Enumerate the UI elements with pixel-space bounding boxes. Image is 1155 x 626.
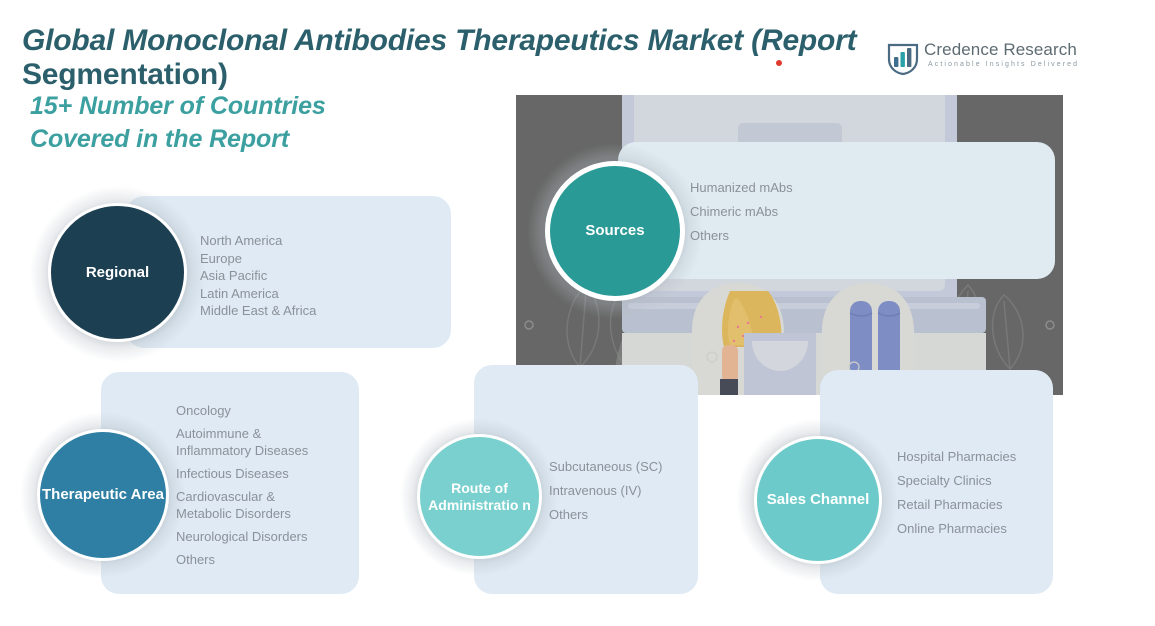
list-item: Others	[549, 503, 662, 527]
list-item: Autoimmune & Inflammatory Diseases	[176, 425, 308, 459]
list-item: Chimeric mAbs	[690, 200, 793, 224]
list-item: Asia Pacific	[200, 267, 316, 285]
segment-label-sales-channel: Sales Channel	[767, 491, 870, 509]
page-title: Global Monoclonal Antibodies Therapeutic…	[22, 24, 922, 92]
list-item: Latin America	[200, 285, 316, 303]
page-subtitle-line2: Covered in the Report	[30, 125, 289, 153]
page-subtitle-line1: 15+ Number of Countries	[30, 92, 326, 120]
logo-name: Credence Research	[924, 40, 1077, 60]
bar-chart-shield-icon	[884, 38, 922, 76]
list-item: Specialty Clinics	[897, 469, 1016, 493]
list-item: Hospital Pharmacies	[897, 445, 1016, 469]
list-item: Retail Pharmacies	[897, 493, 1016, 517]
list-item: Others	[176, 551, 308, 568]
list-item: Infectious Diseases	[176, 465, 308, 482]
list-item: Others	[690, 224, 793, 248]
list-item: Neurological Disorders	[176, 528, 308, 545]
segment-bubble-regional[interactable]: Regional	[48, 203, 187, 342]
list-item: North America	[200, 232, 316, 250]
regional-item-list: North America Europe Asia Pacific Latin …	[200, 232, 316, 320]
red-dot-marker	[776, 60, 782, 66]
segment-label-therapeutic-area: Therapeutic Area	[42, 486, 164, 504]
list-item: Humanized mAbs	[690, 176, 793, 200]
sales-channel-item-list: Hospital Pharmacies Specialty Clinics Re…	[897, 445, 1016, 541]
segment-label-route-of-administration: Route of Administratio n	[420, 480, 539, 514]
segment-bubble-route-of-administration[interactable]: Route of Administratio n	[417, 434, 542, 559]
list-item: Europe	[200, 250, 316, 268]
list-item: Middle East & Africa	[200, 302, 316, 320]
list-item: Intravenous (IV)	[549, 479, 662, 503]
list-item: Cardiovascular & Metabolic Disorders	[176, 488, 308, 522]
page-subtitle: 15+ Number of Countries Covered in the R…	[30, 90, 530, 156]
list-item: Subcutaneous (SC)	[549, 455, 662, 479]
list-item: Oncology	[176, 402, 308, 419]
sources-item-list: Humanized mAbs Chimeric mAbs Others	[690, 176, 793, 248]
route-of-administration-item-list: Subcutaneous (SC) Intravenous (IV) Other…	[549, 455, 662, 527]
segment-bubble-sales-channel[interactable]: Sales Channel	[754, 436, 882, 564]
page-title-line1: Global Monoclonal Antibodies Therapeutic…	[22, 24, 856, 57]
infographic-canvas: Global Monoclonal Antibodies Therapeutic…	[0, 0, 1155, 626]
list-item: Online Pharmacies	[897, 517, 1016, 541]
logo-tagline: Actionable Insights Delivered	[928, 61, 1079, 68]
therapeutic-area-item-list: Oncology Autoimmune & Inflammatory Disea…	[176, 402, 308, 574]
page-title-line2: Segmentation)	[22, 58, 228, 91]
segment-bubble-therapeutic-area[interactable]: Therapeutic Area	[37, 429, 169, 561]
segment-label-regional: Regional	[86, 264, 149, 282]
segment-label-sources: Sources	[585, 222, 644, 240]
segment-bubble-sources[interactable]: Sources	[545, 161, 685, 301]
credence-research-logo: Credence Research Actionable Insights De…	[884, 36, 1074, 78]
